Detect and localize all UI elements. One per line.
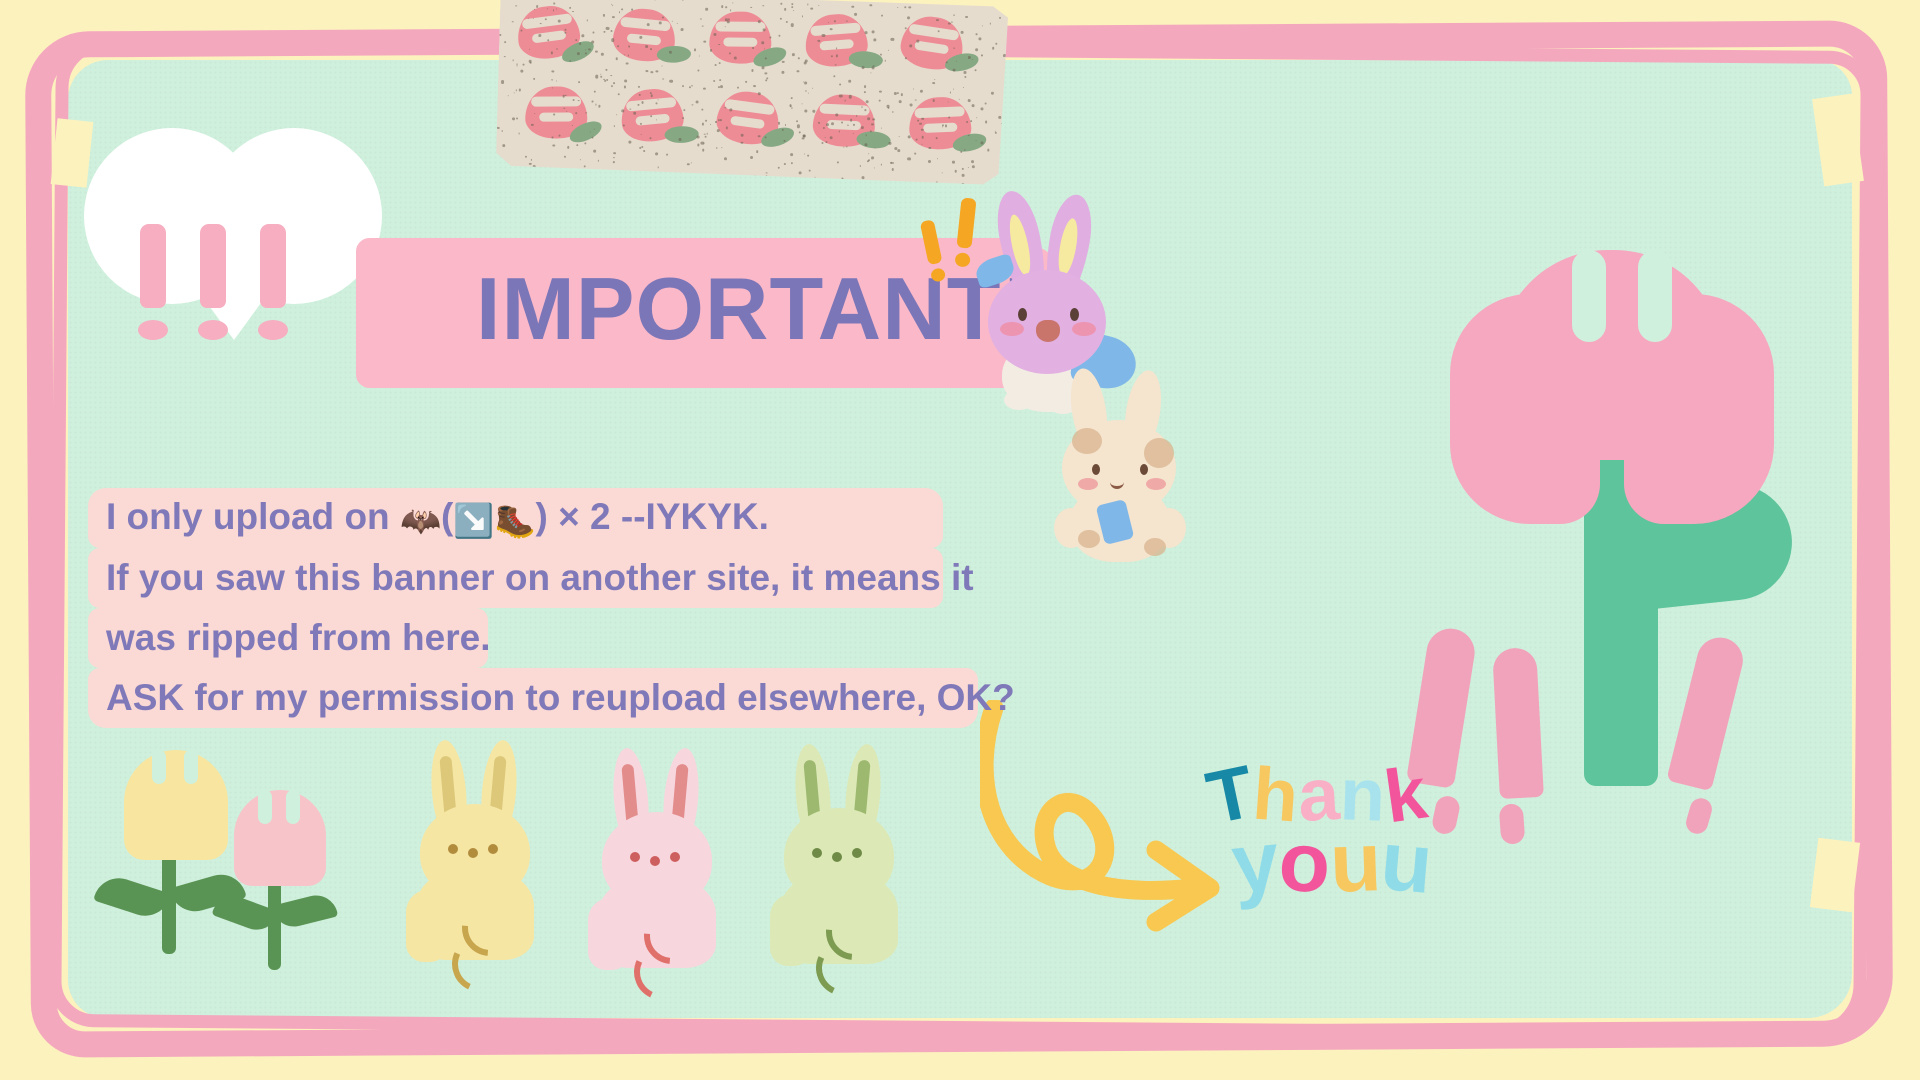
washi-speckle <box>995 132 997 134</box>
washi-speckle <box>865 135 866 136</box>
washi-speckle <box>672 21 673 22</box>
washi-speckle <box>838 131 839 132</box>
washi-speckle <box>904 6 906 8</box>
peep-bunny-yellow <box>406 740 556 960</box>
washi-speckle <box>817 39 820 42</box>
washi-speckle <box>501 80 504 83</box>
washi-speckle <box>669 50 672 53</box>
bunny-mouth <box>1036 320 1060 342</box>
washi-speckle <box>804 82 807 85</box>
washi-speckle <box>758 92 760 94</box>
message-text-segment: ) × 2 --IYKYK. <box>536 496 769 537</box>
washi-speckle <box>626 62 629 65</box>
washi-speckle <box>690 162 692 164</box>
washi-speckle <box>703 87 705 89</box>
washi-speckle <box>532 17 533 18</box>
thank-you-letter: u <box>1377 812 1437 913</box>
washi-speckle <box>717 147 718 148</box>
washi-speckle <box>705 8 708 11</box>
washi-speckle <box>745 81 747 83</box>
washi-speckle <box>871 66 874 69</box>
washi-speckle <box>681 28 684 31</box>
washi-speckle <box>641 146 643 148</box>
washi-speckle <box>965 15 968 18</box>
washi-speckle <box>805 90 806 91</box>
washi-speckle <box>849 80 852 83</box>
washi-speckle <box>732 2 733 3</box>
washi-speckle <box>958 98 960 100</box>
washi-speckle <box>713 80 715 82</box>
washi-speckle <box>658 99 659 100</box>
washi-speckle <box>515 89 517 91</box>
washi-speckle <box>516 65 518 67</box>
washi-speckle <box>830 28 832 30</box>
washi-speckle <box>968 99 970 101</box>
washi-speckle <box>565 29 567 31</box>
washi-speckle <box>640 147 642 149</box>
exclamation-icon <box>196 224 230 354</box>
washi-speckle <box>551 70 554 73</box>
washi-speckle <box>791 3 793 5</box>
bunny-paw <box>770 894 812 966</box>
washi-speckle <box>950 92 951 93</box>
washi-speckle <box>762 28 765 31</box>
peep-bunny-pink <box>588 748 738 968</box>
washi-speckle <box>719 119 722 122</box>
washi-speckle <box>709 123 711 125</box>
washi-speckle <box>697 69 699 71</box>
washi-speckle <box>585 49 586 50</box>
washi-speckle <box>725 18 728 21</box>
washi-speckle <box>699 55 700 56</box>
washi-speckle <box>638 86 640 88</box>
washi-speckle <box>778 122 781 125</box>
washi-speckle <box>991 91 994 94</box>
washi-speckle <box>966 121 968 123</box>
washi-speckle <box>721 6 723 8</box>
bunny-cheek-right <box>1072 322 1096 336</box>
washi-speckle <box>702 25 704 27</box>
message-text-segment: ASK for my permission to reupload elsewh… <box>106 677 1015 718</box>
washi-speckle <box>865 143 868 146</box>
washi-speckle <box>915 99 917 101</box>
washi-speckle <box>720 85 723 88</box>
tulip-petal-center <box>1498 250 1724 460</box>
washi-speckle <box>656 70 658 72</box>
tulip-notch <box>286 790 300 824</box>
washi-speckle <box>917 120 919 122</box>
washi-speckle <box>591 40 594 43</box>
washi-speckle <box>615 58 618 61</box>
washi-speckle <box>697 136 700 139</box>
washi-speckle <box>990 23 991 24</box>
washi-speckle <box>515 5 516 6</box>
washi-speckle <box>719 44 720 45</box>
washi-speckle <box>683 0 684 1</box>
washi-speckle <box>719 79 721 81</box>
washi-speckle <box>839 83 841 85</box>
washi-speckle <box>975 48 978 51</box>
falling-petal-small <box>1499 803 1526 845</box>
washi-speckle <box>606 27 609 30</box>
washi-speckle <box>864 91 866 93</box>
washi-speckle <box>862 66 865 69</box>
washi-speckle <box>721 147 722 148</box>
washi-speckle <box>518 133 519 134</box>
washi-speckle <box>516 118 518 120</box>
washi-speckle <box>804 110 807 113</box>
washi-leaf <box>656 44 691 64</box>
washi-speckle <box>850 119 852 121</box>
washi-speckle <box>835 113 838 116</box>
washi-speckle <box>512 21 514 23</box>
washi-speckle <box>897 149 900 152</box>
washi-speckle <box>932 99 934 101</box>
washi-speckle <box>577 52 580 55</box>
washi-speckle <box>624 85 627 88</box>
washi-speckle <box>981 108 984 111</box>
washi-speckle <box>762 67 764 69</box>
falling-petal <box>1666 633 1747 792</box>
sitting-bunny-sticker <box>1048 368 1208 568</box>
washi-speckle <box>631 9 632 10</box>
exclamation-icon <box>136 224 170 354</box>
washi-speckle <box>881 15 883 17</box>
washi-speckle <box>802 137 805 140</box>
washi-speckle <box>613 162 614 163</box>
washi-speckle <box>884 60 886 62</box>
washi-speckle <box>644 150 646 152</box>
washi-speckle <box>905 57 906 58</box>
washi-speckle <box>713 33 716 36</box>
washi-speckle <box>784 124 786 126</box>
washi-speckle <box>818 4 819 5</box>
washi-speckle <box>533 78 535 80</box>
thank-you-letter: u <box>1328 813 1383 912</box>
washi-speckle <box>705 120 707 122</box>
washi-speckle <box>531 159 533 161</box>
washi-speckle <box>951 21 953 23</box>
washi-speckle <box>677 23 678 24</box>
washi-speckle <box>514 92 515 93</box>
washi-speckle <box>873 167 874 168</box>
washi-speckle <box>519 89 522 92</box>
washi-speckle <box>976 34 978 36</box>
washi-speckle <box>582 34 585 37</box>
thank-you-letter: y <box>1227 812 1284 913</box>
tulip-head <box>124 750 228 860</box>
exclamation-icon <box>256 224 290 354</box>
washi-speckle <box>612 5 613 6</box>
tulip-head <box>234 790 326 886</box>
washi-speckle <box>960 151 962 153</box>
washi-speckle <box>921 144 922 145</box>
washi-speckle <box>662 17 664 19</box>
washi-speckle <box>594 91 596 93</box>
washi-speckle <box>999 16 1001 18</box>
washi-speckle <box>531 124 534 127</box>
washi-speckle <box>881 164 883 166</box>
washi-speckle <box>765 57 767 59</box>
washi-speckle <box>650 71 652 73</box>
washi-speckle <box>570 60 571 61</box>
bunny-eye-right <box>488 844 498 854</box>
washi-speckle <box>695 101 698 104</box>
washi-speckle <box>697 144 699 146</box>
washi-speckle <box>874 148 875 149</box>
washi-speckle <box>553 10 555 12</box>
washi-speckle <box>710 49 712 51</box>
washi-speckle <box>701 109 703 111</box>
bat-emoji: 🦇 <box>400 502 441 539</box>
washi-speckle <box>799 132 801 134</box>
big-tulip-sticker <box>1450 250 1800 810</box>
washi-speckle <box>812 88 813 89</box>
washi-speckle <box>640 123 642 125</box>
bunny-nose <box>650 856 660 866</box>
washi-speckle <box>715 121 716 122</box>
washi-speckle <box>841 121 843 123</box>
washi-speckle <box>952 69 955 72</box>
washi-speckle <box>780 3 782 5</box>
washi-speckle <box>751 7 752 8</box>
washi-speckle <box>796 120 799 123</box>
washi-speckle <box>564 155 566 157</box>
washi-speckle <box>502 144 505 147</box>
washi-speckle <box>954 170 956 172</box>
washi-speckle <box>758 20 761 23</box>
washi-speckle <box>792 53 795 56</box>
washi-speckle <box>798 57 800 59</box>
washi-speckle <box>920 90 923 93</box>
washi-speckle <box>953 88 954 89</box>
message-line-text: I only upload on 🦇(↘️🥾) × 2 --IYKYK. <box>88 496 789 541</box>
washi-speckle <box>853 124 855 126</box>
thank-you-sticker: Thank youu <box>1200 752 1500 942</box>
washi-speckle <box>611 85 613 87</box>
washi-speckle <box>751 69 753 71</box>
washi-leaf <box>664 125 699 145</box>
washi-speckle <box>595 104 597 106</box>
washi-speckle <box>778 166 780 168</box>
tulip-notch <box>258 790 272 824</box>
washi-speckle <box>718 62 721 65</box>
bunny-eye-left <box>1092 464 1100 475</box>
washi-speckle <box>987 149 990 152</box>
washi-speckle <box>657 167 659 169</box>
washi-speckle <box>646 70 649 73</box>
bunny-eye-right <box>1140 464 1148 475</box>
bunny-eye-right <box>852 848 862 858</box>
washi-speckle <box>891 168 894 171</box>
washi-speckle <box>928 160 931 163</box>
washi-speckle <box>868 154 869 155</box>
bunny-nose <box>468 848 478 858</box>
washi-speckle <box>661 65 662 66</box>
frame-gap-right-bottom <box>1810 838 1860 913</box>
washi-speckle <box>770 37 772 39</box>
washi-speckle <box>919 122 921 124</box>
washi-speckle <box>851 5 853 7</box>
bunny-spot <box>1072 428 1102 454</box>
washi-speckle <box>766 77 769 80</box>
washi-speckle <box>529 162 532 165</box>
washi-speckle <box>553 114 554 115</box>
washi-speckle <box>500 34 502 36</box>
washi-speckle <box>598 105 601 108</box>
down-right-arrow-emoji: ↘️ <box>453 502 494 539</box>
washi-speckle <box>578 81 580 83</box>
washi-speckle <box>790 153 793 156</box>
bunny-nose <box>832 852 842 862</box>
washi-speckle <box>799 171 802 174</box>
washi-speckle <box>782 61 784 63</box>
washi-speckle <box>700 18 701 19</box>
washi-speckle <box>619 11 621 13</box>
white-heart-sticker <box>84 128 384 378</box>
bunny-eye-left <box>1018 308 1027 321</box>
washi-speckle <box>873 65 875 67</box>
bunny-spot <box>1144 538 1166 556</box>
washi-speckle <box>603 30 605 32</box>
washi-speckle <box>985 102 987 104</box>
washi-speckle <box>694 49 697 52</box>
washi-speckle <box>789 104 792 107</box>
washi-speckle <box>985 121 987 123</box>
washi-speckle <box>971 160 974 163</box>
washi-speckle <box>892 111 894 113</box>
washi-speckle <box>873 118 876 121</box>
washi-speckle <box>612 16 615 19</box>
washi-speckle <box>683 109 685 111</box>
washi-speckle <box>887 105 890 108</box>
washi-speckle <box>797 125 800 128</box>
washi-speckle <box>781 71 784 74</box>
washi-speckle <box>613 157 614 158</box>
bunny-paw <box>406 890 448 962</box>
washi-speckle <box>865 109 867 111</box>
bunny-cheek-right <box>1146 478 1166 490</box>
washi-speckle <box>996 42 998 44</box>
washi-speckle <box>793 10 795 12</box>
washi-speckle <box>791 107 792 108</box>
washi-speckle <box>845 100 846 101</box>
washi-speckle <box>897 7 898 8</box>
washi-speckle <box>556 80 557 81</box>
washi-speckle <box>756 150 759 153</box>
washi-speckle <box>861 126 864 129</box>
washi-speckle <box>909 44 912 47</box>
washi-speckle <box>879 100 881 102</box>
washi-speckle <box>762 41 765 44</box>
washi-speckle <box>901 93 903 95</box>
washi-speckle <box>797 70 800 73</box>
washi-speckle <box>892 162 894 164</box>
washi-speckle <box>691 104 693 106</box>
washi-speckle <box>898 100 901 103</box>
washi-speckle <box>572 11 574 13</box>
washi-speckle <box>717 129 720 132</box>
washi-speckle <box>595 51 598 54</box>
washi-speckle <box>504 42 506 44</box>
washi-speckle <box>624 80 627 83</box>
washi-speckle <box>961 31 964 34</box>
washi-speckle <box>556 8 557 9</box>
washi-speckle <box>613 82 615 84</box>
washi-speckle <box>559 134 561 136</box>
bunny-eye-right <box>1070 308 1079 321</box>
tulip-notch <box>152 750 166 784</box>
washi-speckle <box>691 85 692 86</box>
washi-speckle <box>846 20 848 22</box>
washi-speckle <box>936 19 939 22</box>
washi-speckle <box>865 100 868 103</box>
bunny-paw <box>588 898 630 970</box>
washi-speckle <box>865 31 868 34</box>
washi-speckle <box>508 95 509 96</box>
washi-speckle <box>502 130 503 131</box>
washi-speckle <box>871 156 874 159</box>
tulip-notch <box>1572 250 1606 342</box>
washi-speckle <box>872 30 875 33</box>
washi-speckle <box>639 36 642 39</box>
washi-speckle <box>968 56 971 59</box>
washi-speckle <box>585 52 587 54</box>
washi-speckle <box>907 157 910 160</box>
washi-speckle <box>666 154 668 156</box>
washi-speckle <box>567 146 569 148</box>
washi-speckle <box>929 147 932 150</box>
washi-speckle <box>974 69 977 72</box>
washi-speckle <box>963 87 964 88</box>
banner-canvas: IMPORTANT! I only upload on 🦇(↘️🥾) × 2 -… <box>0 0 1920 1080</box>
washi-speckle <box>784 163 786 165</box>
washi-speckle <box>825 141 827 143</box>
washi-speckle <box>888 142 891 145</box>
washi-speckle <box>650 94 652 96</box>
bunny-eye-left <box>630 852 640 862</box>
washi-speckle <box>613 125 614 126</box>
washi-speckle <box>909 104 912 107</box>
bunny-foot-left <box>1004 390 1034 410</box>
washi-speckle <box>592 101 594 103</box>
message-line: was ripped from here. <box>88 608 1035 668</box>
washi-speckle <box>523 64 525 66</box>
bunny-cheek-left <box>1078 478 1098 490</box>
message-text-segment: If you saw this banner on another site, … <box>106 557 974 598</box>
washi-speckle <box>867 161 869 163</box>
peep-bunny-green <box>770 744 920 964</box>
washi-speckle <box>780 18 782 20</box>
washi-speckle <box>814 176 815 177</box>
message-line-text: was ripped from here. <box>88 617 511 659</box>
washi-speckle <box>790 23 793 26</box>
message-text-segment: ( <box>441 496 453 537</box>
washi-speckle <box>679 138 682 141</box>
washi-speckle <box>521 69 524 72</box>
washi-speckle <box>871 73 872 74</box>
washi-speckle <box>953 14 954 15</box>
message-line-text: ASK for my permission to reupload elsewh… <box>88 677 1035 719</box>
washi-speckle <box>656 119 657 120</box>
boot-emoji: 🥾 <box>494 502 535 539</box>
washi-speckle <box>864 86 867 89</box>
bunny-eye-left <box>812 848 822 858</box>
washi-speckle <box>687 163 690 166</box>
washi-speckle <box>726 7 728 9</box>
washi-speckle <box>585 142 587 144</box>
washi-speckle <box>550 51 553 54</box>
